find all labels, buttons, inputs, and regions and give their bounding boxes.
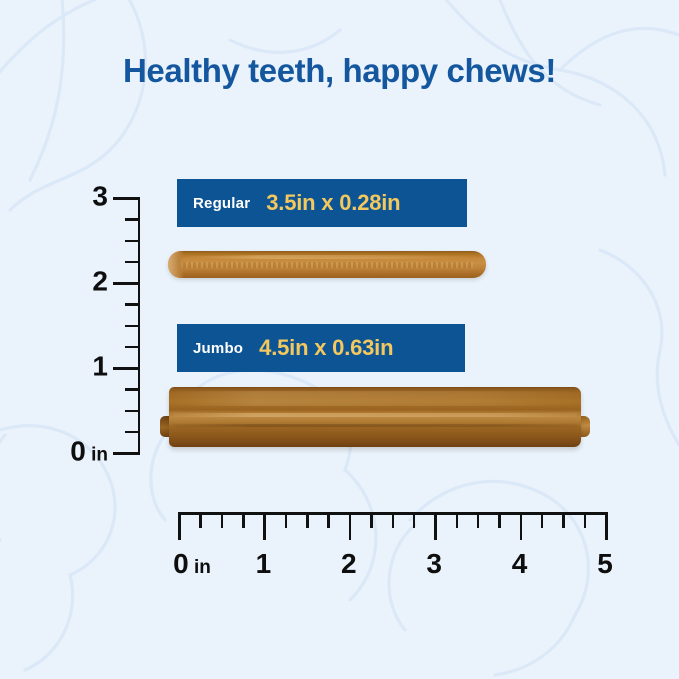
product-dimensions-regular: 3.5in x 0.28in bbox=[266, 190, 400, 216]
horizontal-ruler-major-tick bbox=[520, 512, 523, 540]
horizontal-ruler-major-tick bbox=[178, 512, 181, 540]
vertical-ruler-label: 3 bbox=[92, 180, 108, 212]
horizontal-ruler-minor-tick bbox=[306, 512, 309, 528]
vertical-ruler-label: 1 bbox=[92, 350, 108, 382]
horizontal-ruler-label: 1 bbox=[256, 548, 272, 580]
regular-chew-texture bbox=[181, 262, 474, 268]
vertical-ruler-unit: in bbox=[86, 444, 108, 465]
regular-chew-end-cap bbox=[168, 251, 184, 278]
product-image-regular-chew bbox=[168, 251, 486, 278]
horizontal-ruler-major-tick bbox=[434, 512, 437, 540]
vertical-ruler-minor-tick bbox=[125, 431, 140, 434]
size-callout-regular: Regular 3.5in x 0.28in bbox=[177, 179, 467, 227]
horizontal-ruler-major-tick bbox=[263, 512, 266, 540]
horizontal-ruler-minor-tick bbox=[477, 512, 480, 528]
horizontal-ruler-label: 0 in bbox=[173, 548, 211, 580]
vertical-ruler-minor-tick bbox=[125, 303, 140, 306]
vertical-ruler-major-tick bbox=[113, 282, 140, 285]
vertical-ruler-minor-tick bbox=[125, 388, 140, 391]
product-dimensions-jumbo: 4.5in x 0.63in bbox=[259, 335, 393, 361]
horizontal-ruler-label: 3 bbox=[426, 548, 442, 580]
horizontal-ruler-minor-tick bbox=[413, 512, 416, 528]
horizontal-ruler-minor-tick bbox=[285, 512, 288, 528]
jumbo-chew-body bbox=[169, 387, 581, 447]
vertical-ruler-minor-tick bbox=[125, 325, 140, 328]
infographic-canvas: Healthy teeth, happy chews! 0 in123 0 in… bbox=[0, 0, 679, 679]
horizontal-ruler-minor-tick bbox=[392, 512, 395, 528]
vertical-ruler: 0 in123 bbox=[60, 185, 140, 465]
vertical-ruler-minor-tick bbox=[125, 261, 140, 264]
horizontal-ruler-major-tick bbox=[605, 512, 608, 540]
jumbo-chew-top-face bbox=[173, 391, 577, 407]
regular-chew-highlight bbox=[184, 255, 477, 259]
vertical-ruler-major-tick bbox=[113, 452, 140, 455]
vertical-ruler-label: 0 in bbox=[70, 435, 108, 467]
horizontal-ruler-minor-tick bbox=[242, 512, 245, 528]
vertical-ruler-minor-tick bbox=[125, 218, 140, 221]
vertical-ruler-label: 2 bbox=[92, 265, 108, 297]
vertical-ruler-major-tick bbox=[113, 197, 140, 200]
vertical-ruler-minor-tick bbox=[125, 346, 140, 349]
horizontal-ruler-minor-tick bbox=[562, 512, 565, 528]
product-image-jumbo-chew bbox=[160, 387, 590, 447]
horizontal-ruler-major-tick bbox=[349, 512, 352, 540]
horizontal-ruler-label: 5 bbox=[597, 548, 613, 580]
vertical-ruler-minor-tick bbox=[125, 410, 140, 413]
size-callout-jumbo: Jumbo 4.5in x 0.63in bbox=[177, 324, 465, 372]
product-name-jumbo: Jumbo bbox=[193, 340, 243, 357]
horizontal-ruler-minor-tick bbox=[370, 512, 373, 528]
horizontal-ruler: 0 in12345 bbox=[178, 512, 618, 582]
vertical-ruler-minor-tick bbox=[125, 240, 140, 243]
vertical-ruler-major-tick bbox=[113, 367, 140, 370]
jumbo-chew-ridge-shadow bbox=[173, 424, 577, 427]
horizontal-ruler-label: 4 bbox=[512, 548, 528, 580]
horizontal-ruler-minor-tick bbox=[221, 512, 224, 528]
horizontal-ruler-minor-tick bbox=[584, 512, 587, 528]
horizontal-ruler-minor-tick bbox=[327, 512, 330, 528]
horizontal-ruler-minor-tick bbox=[541, 512, 544, 528]
page-title: Healthy teeth, happy chews! bbox=[0, 52, 679, 90]
horizontal-ruler-minor-tick bbox=[456, 512, 459, 528]
horizontal-ruler-minor-tick bbox=[498, 512, 501, 528]
jumbo-chew-ridge-highlight bbox=[173, 413, 577, 417]
horizontal-ruler-unit: in bbox=[189, 557, 211, 578]
product-name-regular: Regular bbox=[193, 195, 250, 212]
horizontal-ruler-minor-tick bbox=[199, 512, 202, 528]
horizontal-ruler-label: 2 bbox=[341, 548, 357, 580]
